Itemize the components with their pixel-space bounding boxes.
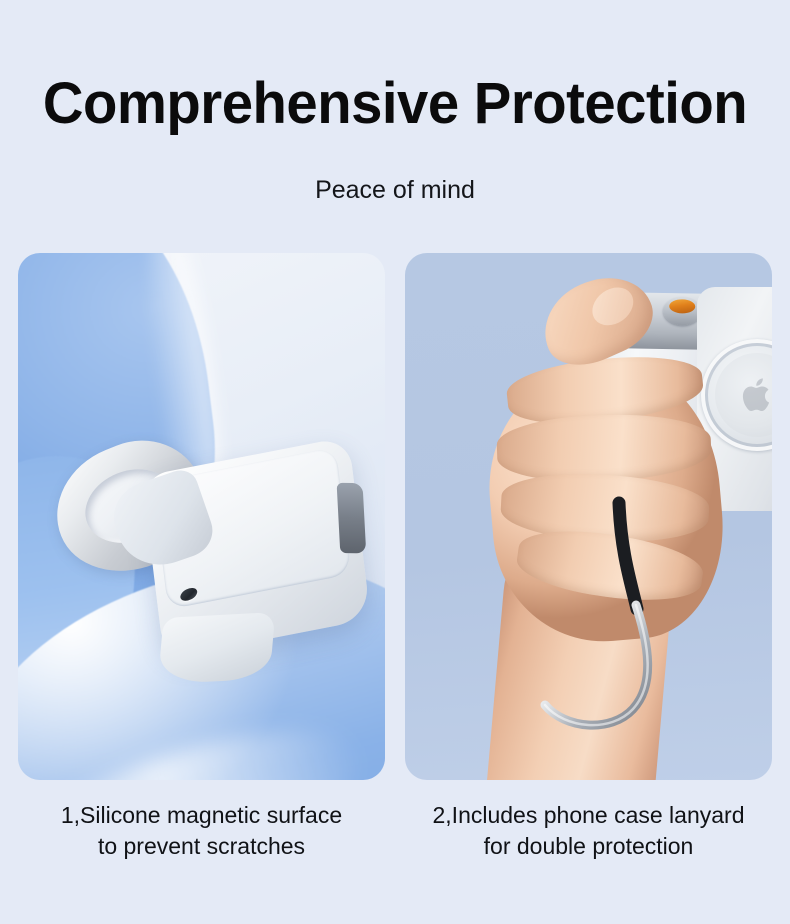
page-subtitle: Peace of mind: [0, 175, 790, 205]
grip-side-accent: [337, 483, 367, 554]
feature-panels: TELESIN: [18, 253, 772, 780]
panel-phone-case-lanyard[interactable]: TELESIN: [405, 253, 772, 780]
magsafe-ring: [701, 339, 772, 451]
caption-phone-case-lanyard: 2,Includes phone case lanyard for double…: [405, 800, 772, 862]
grip-foot: [158, 612, 276, 684]
page-title: Comprehensive Protection: [12, 72, 778, 136]
hand-holding-grip-photo: TELESIN: [405, 253, 772, 780]
thumb-nail: [585, 280, 641, 333]
panel-silicone-magnetic-surface[interactable]: [18, 253, 385, 780]
caption-line-1: 2,Includes phone case lanyard: [405, 800, 772, 831]
shutter-button[interactable]: [663, 297, 701, 326]
caption-line-2: to prevent scratches: [18, 831, 385, 862]
apple-logo-icon: [740, 375, 772, 415]
magsafe-ring-inner: [715, 353, 772, 437]
product-grip-illustration: [37, 395, 385, 741]
caption-line-2: for double protection: [405, 831, 772, 862]
caption-silicone-magnetic-surface: 1,Silicone magnetic surface to prevent s…: [18, 800, 385, 862]
panel-captions: 1,Silicone magnetic surface to prevent s…: [18, 800, 772, 862]
caption-line-1: 1,Silicone magnetic surface: [18, 800, 385, 831]
